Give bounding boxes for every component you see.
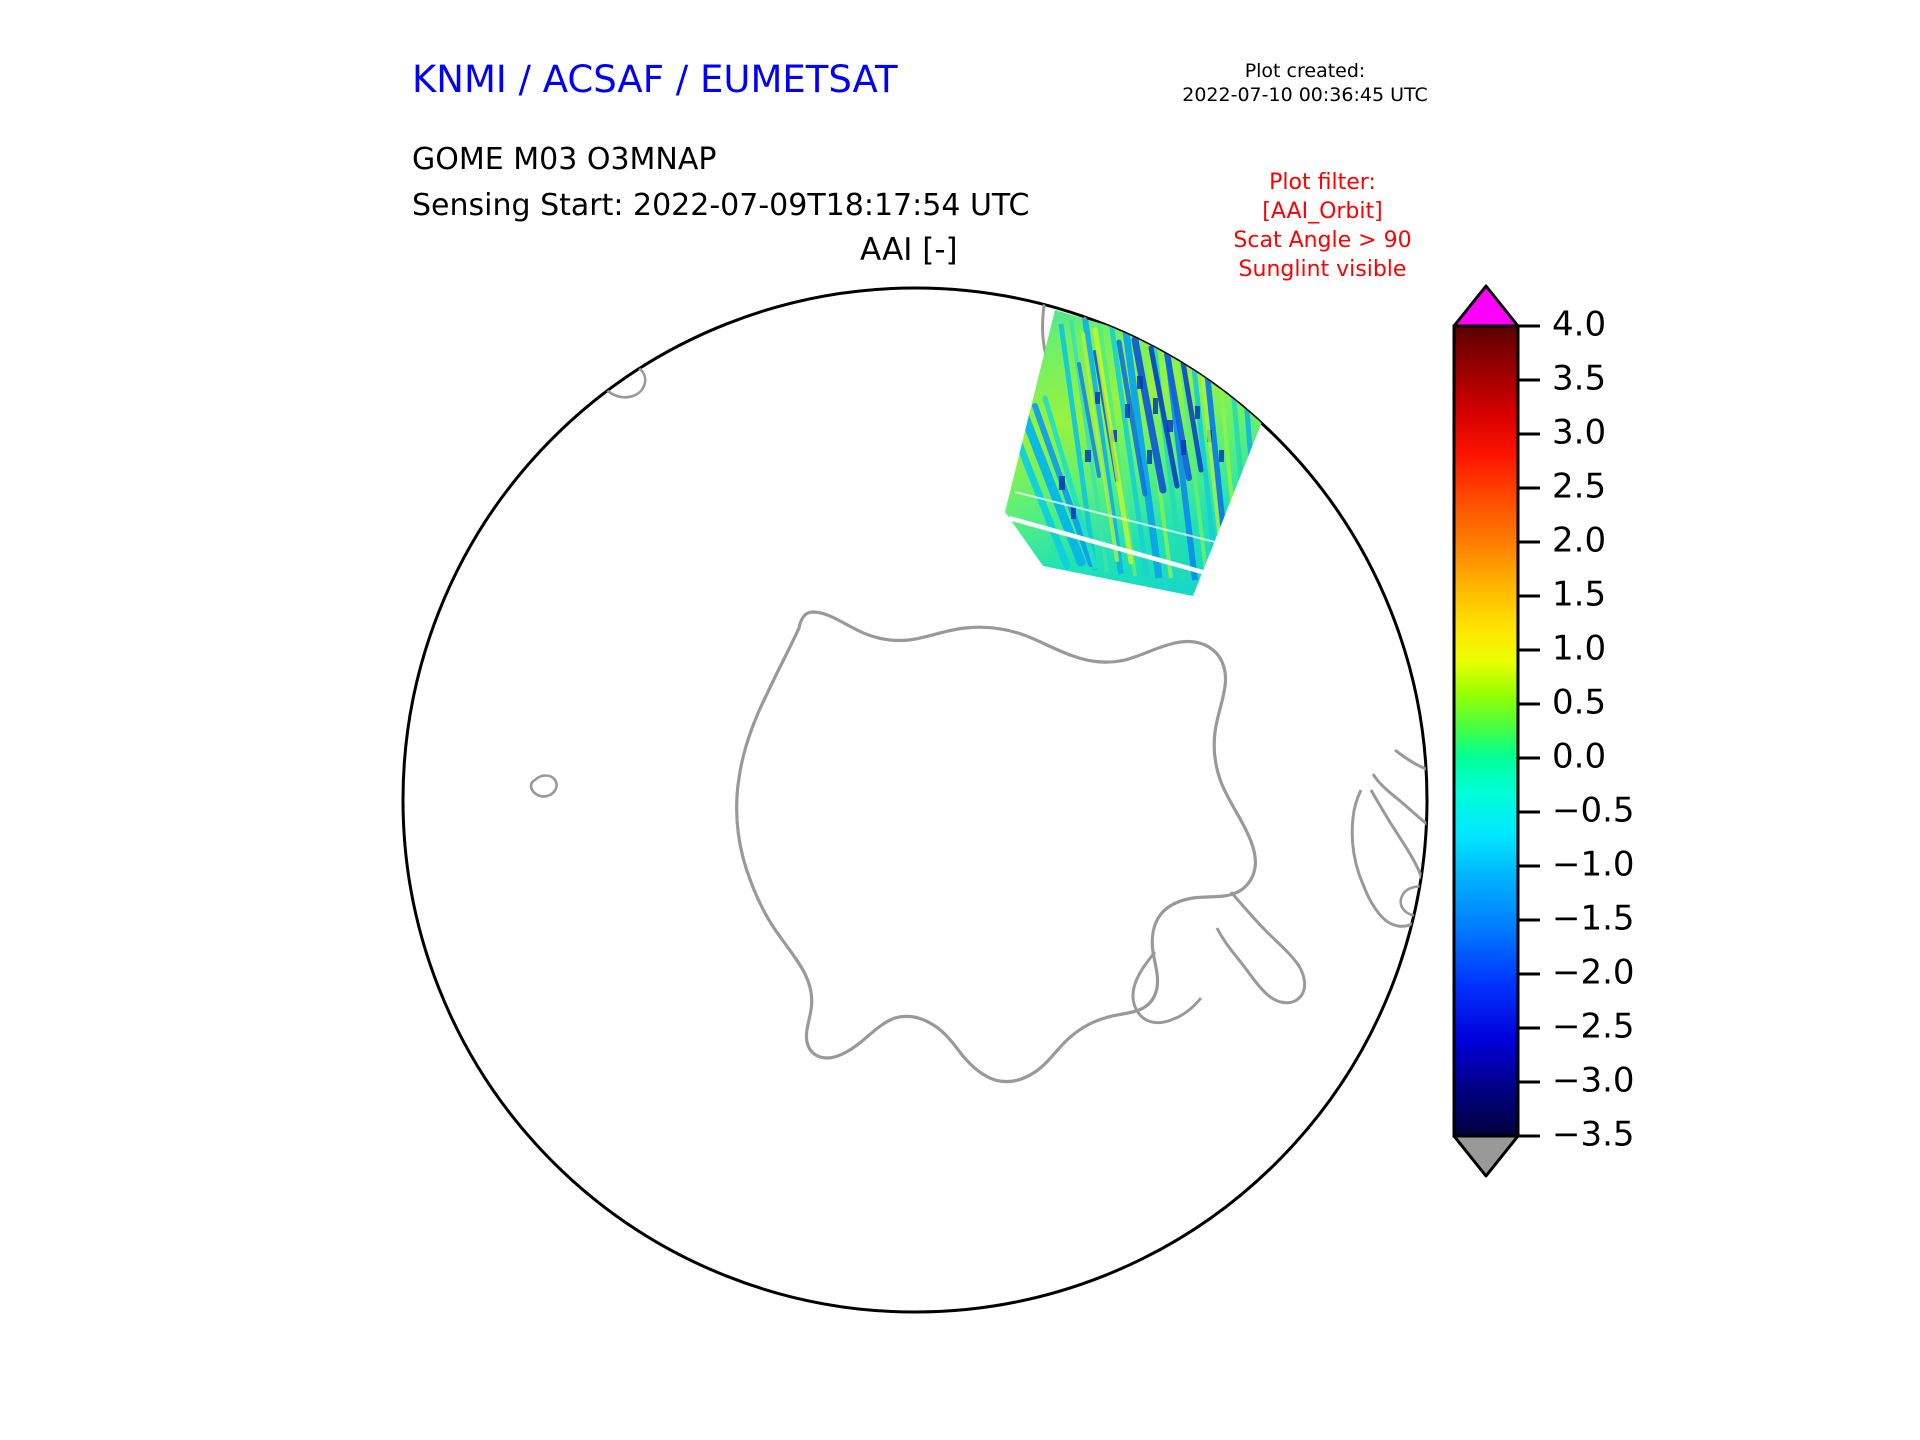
quantity-label: AAI [-] — [860, 232, 958, 268]
colorbar-over-arrow — [1454, 286, 1518, 326]
organisation-title: KNMI / ACSAF / EUMETSAT — [412, 58, 898, 101]
map-panel — [395, 280, 1435, 1320]
colorbar-svg: 4.0 3.5 3.0 2.5 2.0 1.5 1.0 0.5 0.0 −0.5… — [1440, 280, 1660, 1310]
plot-created-label: Plot created: — [1160, 60, 1450, 84]
cb-label-4: 2.0 — [1552, 521, 1606, 561]
cb-label-12: −2.0 — [1552, 953, 1635, 993]
cb-label-15: −3.5 — [1552, 1115, 1635, 1155]
cb-label-2: 3.0 — [1552, 413, 1606, 453]
plot-created-block: Plot created: 2022-07-10 00:36:45 UTC — [1160, 60, 1450, 108]
cb-label-11: −1.5 — [1552, 899, 1635, 939]
polar-map-svg — [395, 280, 1435, 1320]
plot-filter-scat-angle: Scat Angle > 90 — [1195, 226, 1450, 255]
cb-label-10: −1.0 — [1552, 845, 1635, 885]
colorbar-gradient — [1454, 326, 1518, 1136]
cb-label-3: 2.5 — [1552, 467, 1606, 507]
plot-created-time: 2022-07-10 00:36:45 UTC — [1160, 84, 1450, 108]
map-limb-circle — [403, 288, 1427, 1312]
cb-label-9: −0.5 — [1552, 791, 1635, 831]
product-title: GOME M03 O3MNAP — [412, 142, 716, 177]
colorbar-ticks — [1518, 326, 1540, 1136]
colorbar-under-arrow — [1454, 1136, 1518, 1176]
colorbar-panel: 4.0 3.5 3.0 2.5 2.0 1.5 1.0 0.5 0.0 −0.5… — [1440, 280, 1660, 1310]
cb-label-1: 3.5 — [1552, 359, 1606, 399]
plot-filter-label: Plot filter: — [1195, 168, 1450, 197]
cb-label-5: 1.5 — [1552, 575, 1606, 615]
colorbar-tick-labels: 4.0 3.5 3.0 2.5 2.0 1.5 1.0 0.5 0.0 −0.5… — [1552, 305, 1635, 1155]
cb-label-8: 0.0 — [1552, 737, 1606, 777]
cb-label-6: 1.0 — [1552, 629, 1606, 669]
plot-page: KNMI / ACSAF / EUMETSAT Plot created: 20… — [0, 0, 1920, 1440]
sensing-start-label: Sensing Start: 2022-07-09T18:17:54 UTC — [412, 188, 1029, 223]
plot-filter-name: [AAI_Orbit] — [1195, 197, 1450, 226]
cb-label-7: 0.5 — [1552, 683, 1606, 723]
cb-label-0: 4.0 — [1552, 305, 1606, 345]
cb-label-14: −3.0 — [1552, 1061, 1635, 1101]
plot-filter-block: Plot filter: [AAI_Orbit] Scat Angle > 90… — [1195, 168, 1450, 284]
cb-label-13: −2.5 — [1552, 1007, 1635, 1047]
